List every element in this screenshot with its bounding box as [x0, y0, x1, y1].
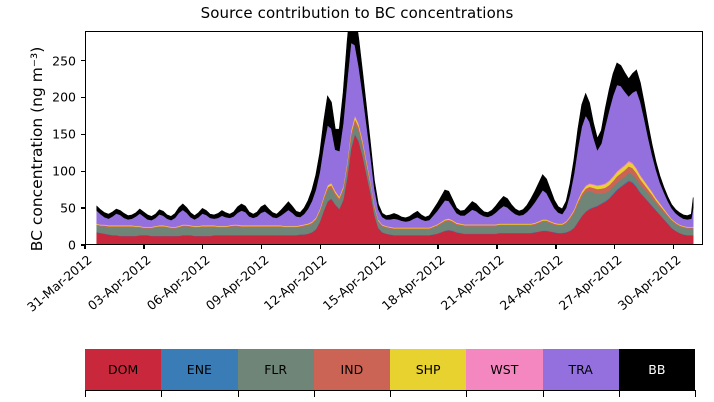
- legend-item-label: IND: [341, 362, 364, 377]
- x-tick-mark: [555, 245, 556, 249]
- plot-clip: [86, 32, 702, 244]
- legend-item-label: ENE: [187, 362, 212, 377]
- legend-baseline-axis: [85, 390, 695, 402]
- x-tick-mark: [437, 245, 438, 249]
- x-tick-mark: [143, 245, 144, 249]
- x-tick-mark: [261, 245, 262, 249]
- y-tick-label: 100: [30, 164, 76, 179]
- legend-axis-tick: [466, 390, 467, 397]
- plot-area: [85, 31, 703, 245]
- chart-title: Source contribution to BC concentrations: [0, 4, 714, 22]
- legend-item-dom[interactable]: DOM: [85, 349, 161, 390]
- y-tick-label: 150: [30, 127, 76, 142]
- x-tick-mark: [379, 245, 380, 249]
- legend-axis-tick: [161, 390, 162, 397]
- legend-item-label: WST: [490, 362, 518, 377]
- y-tick-label: 0: [30, 238, 76, 253]
- figure: Source contribution to BC concentrations…: [0, 0, 714, 402]
- stacked-area-svg: [86, 32, 702, 244]
- y-tick-label: 250: [30, 53, 76, 68]
- x-tick-mark: [673, 245, 674, 249]
- legend-item-label: DOM: [108, 362, 138, 377]
- x-tick-mark: [614, 245, 615, 249]
- legend-axis-tick: [695, 390, 696, 397]
- legend-item-bb[interactable]: BB: [619, 349, 695, 390]
- legend-axis-tick: [314, 390, 315, 397]
- legend-item-tra[interactable]: TRA: [543, 349, 619, 390]
- legend-item-label: TRA: [568, 362, 592, 377]
- legend: DOMENEFLRINDSHPWSTTRABB: [85, 349, 695, 390]
- legend-axis-tick: [543, 390, 544, 397]
- legend-item-label: SHP: [416, 362, 441, 377]
- x-tick-mark: [202, 245, 203, 249]
- legend-axis-tick: [238, 390, 239, 397]
- legend-item-flr[interactable]: FLR: [238, 349, 314, 390]
- legend-axis-tick: [619, 390, 620, 397]
- x-tick-mark: [84, 245, 85, 249]
- y-tick-label: 200: [30, 90, 76, 105]
- x-tick-mark: [320, 245, 321, 249]
- legend-item-ind[interactable]: IND: [314, 349, 390, 390]
- y-tick-label: 50: [30, 201, 76, 216]
- legend-item-label: FLR: [264, 362, 287, 377]
- x-tick-mark: [496, 245, 497, 249]
- legend-axis-tick: [390, 390, 391, 397]
- legend-item-wst[interactable]: WST: [466, 349, 542, 390]
- legend-item-ene[interactable]: ENE: [161, 349, 237, 390]
- legend-axis-tick: [85, 390, 86, 397]
- legend-item-label: BB: [648, 362, 665, 377]
- legend-item-shp[interactable]: SHP: [390, 349, 466, 390]
